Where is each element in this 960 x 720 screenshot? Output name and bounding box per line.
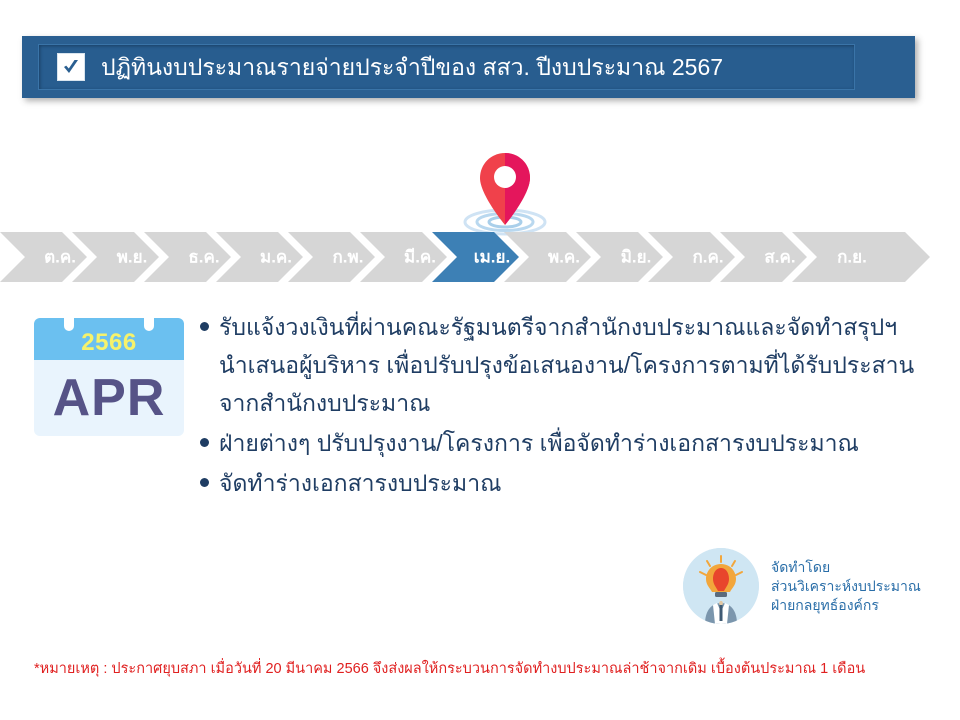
month-label-7: พ.ค. bbox=[548, 247, 580, 266]
month-label-0: ต.ค. bbox=[44, 247, 76, 266]
bullet-dot-icon bbox=[200, 478, 209, 487]
bullet-dot-icon bbox=[200, 438, 209, 447]
bullet-dot-icon bbox=[200, 322, 209, 331]
month-label-3: ม.ค. bbox=[260, 247, 292, 266]
month-label-2: ธ.ค. bbox=[188, 247, 219, 266]
month-label-9: ก.ค. bbox=[692, 247, 723, 266]
calendar-year: 2566 bbox=[81, 331, 136, 360]
month-label-11: ก.ย. bbox=[837, 247, 867, 266]
bullet-list: รับแจ้งวงเงินที่ผ่านคณะรัฐมนตรีจากสำนักง… bbox=[200, 308, 930, 504]
credit-line-1: จัดทำโดย bbox=[771, 558, 921, 577]
bullet-text: ฝ่ายต่างๆ ปรับปรุงงาน/โครงการ เพื่อจัดทำ… bbox=[219, 424, 859, 462]
slide-canvas: ปฏิทินงบประมาณรายจ่ายประจำปีของ สสว. ปีง… bbox=[0, 0, 960, 720]
page-title: ปฏิทินงบประมาณรายจ่ายประจำปีของ สสว. ปีง… bbox=[101, 56, 723, 79]
location-pin-icon bbox=[455, 145, 555, 245]
footnote: *หมายเหตุ : ประกาศยุบสภา เมื่อวันที่ 20 … bbox=[34, 660, 934, 679]
credit-line-3: ฝ่ายกลยุทธ์องค์กร bbox=[771, 596, 921, 615]
bullet-text: จัดทำร่างเอกสารงบประมาณ bbox=[219, 464, 501, 502]
credit-line-2: ส่วนวิเคราะห์งบประมาณ bbox=[771, 577, 921, 596]
calendar-ring-left bbox=[64, 309, 74, 331]
calendar-ring-right bbox=[144, 309, 154, 331]
month-label-8: มิ.ย. bbox=[621, 247, 652, 266]
month-label-1: พ.ย. bbox=[117, 247, 148, 266]
list-item: รับแจ้งวงเงินที่ผ่านคณะรัฐมนตรีจากสำนักง… bbox=[200, 308, 930, 422]
calendar-header: 2566 bbox=[34, 318, 184, 360]
calendar-month: APR bbox=[53, 372, 166, 424]
calendar-icon: 2566 APR bbox=[34, 318, 184, 436]
month-timeline: ต.ค. พ.ย. ธ.ค. ม.ค. ก.พ. มี.ค. เม.ย. พ.ค… bbox=[0, 232, 960, 282]
list-item: จัดทำร่างเอกสารงบประมาณ bbox=[200, 464, 930, 502]
credit-text: จัดทำโดย ส่วนวิเคราะห์งบประมาณ ฝ่ายกลยุท… bbox=[771, 558, 921, 615]
checkbox-checked-icon bbox=[57, 53, 85, 81]
month-label-10: ส.ค. bbox=[764, 247, 795, 266]
list-item: ฝ่ายต่างๆ ปรับปรุงงาน/โครงการ เพื่อจัดทำ… bbox=[200, 424, 930, 462]
lightbulb-person-icon bbox=[683, 548, 759, 624]
month-label-4: ก.พ. bbox=[333, 247, 364, 266]
calendar-body: APR bbox=[34, 360, 184, 436]
month-label-6: เม.ย. bbox=[474, 247, 510, 266]
credit-block: จัดทำโดย ส่วนวิเคราะห์งบประมาณ ฝ่ายกลยุท… bbox=[683, 548, 921, 624]
month-label-5: มี.ค. bbox=[404, 246, 436, 266]
header-banner: ปฏิทินงบประมาณรายจ่ายประจำปีของ สสว. ปีง… bbox=[22, 36, 915, 98]
header-panel: ปฏิทินงบประมาณรายจ่ายประจำปีของ สสว. ปีง… bbox=[38, 44, 855, 90]
bullet-text: รับแจ้งวงเงินที่ผ่านคณะรัฐมนตรีจากสำนักง… bbox=[219, 308, 930, 422]
